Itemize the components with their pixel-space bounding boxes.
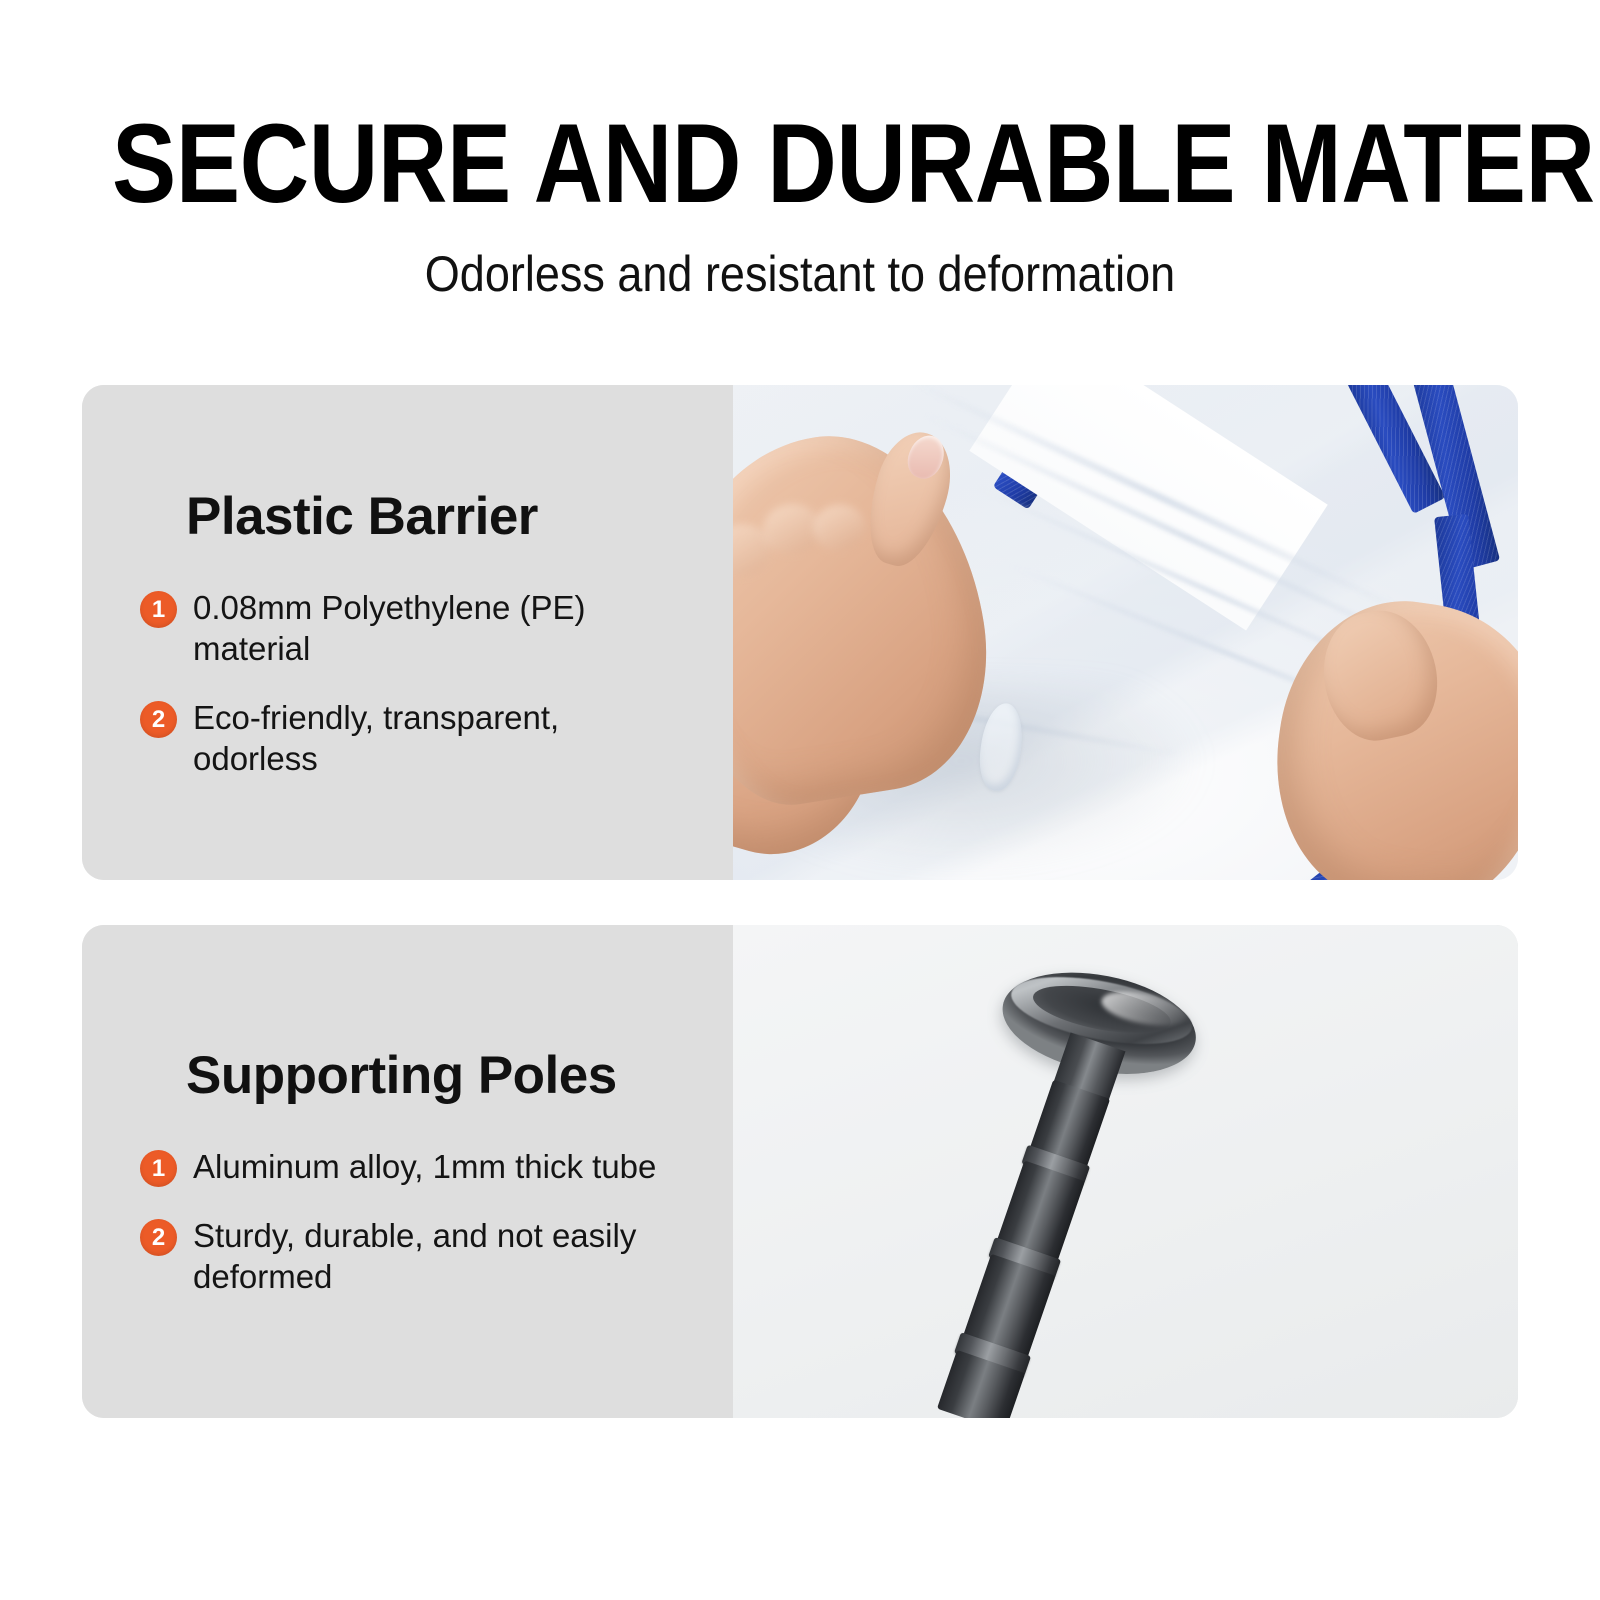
bullet-item: 1 0.08mm Polyethylene (PE) material [140, 587, 699, 669]
feature-card-plastic-barrier: Plastic Barrier 1 0.08mm Polyethylene (P… [82, 385, 1518, 880]
feature-card-supporting-poles: Supporting Poles 1 Aluminum alloy, 1mm t… [82, 925, 1518, 1418]
header-section: SECURE AND DURABLE MATERIAL Odorless and… [0, 0, 1600, 385]
bullet-text: Eco-friendly, transparent, odorless [193, 697, 683, 779]
card-heading: Plastic Barrier [140, 487, 699, 547]
page-subtitle: Odorless and resistant to deformation [80, 247, 1520, 301]
card-text-panel: Plastic Barrier 1 0.08mm Polyethylene (P… [82, 385, 733, 880]
bullet-number-badge: 2 [140, 701, 177, 738]
bullet-text: 0.08mm Polyethylene (PE) material [193, 587, 683, 669]
plastic-barrier-photo [733, 385, 1518, 880]
card-heading: Supporting Poles [140, 1046, 699, 1106]
bullet-item: 2 Eco-friendly, transparent, odorless [140, 697, 699, 779]
bullet-text: Sturdy, durable, and not easily deformed [193, 1215, 683, 1297]
bullet-number-badge: 1 [140, 591, 177, 628]
bullet-text: Aluminum alloy, 1mm thick tube [193, 1146, 656, 1187]
supporting-pole-photo [733, 925, 1518, 1418]
bullet-number-badge: 1 [140, 1150, 177, 1187]
bullet-item: 2 Sturdy, durable, and not easily deform… [140, 1215, 699, 1297]
card-text-panel: Supporting Poles 1 Aluminum alloy, 1mm t… [82, 925, 733, 1418]
telescoping-pole [873, 935, 1272, 1418]
knuckle [810, 501, 869, 555]
page-title: SECURE AND DURABLE MATERIAL [112, 108, 1488, 220]
bullet-number-badge: 2 [140, 1219, 177, 1256]
bullet-item: 1 Aluminum alloy, 1mm thick tube [140, 1146, 699, 1187]
